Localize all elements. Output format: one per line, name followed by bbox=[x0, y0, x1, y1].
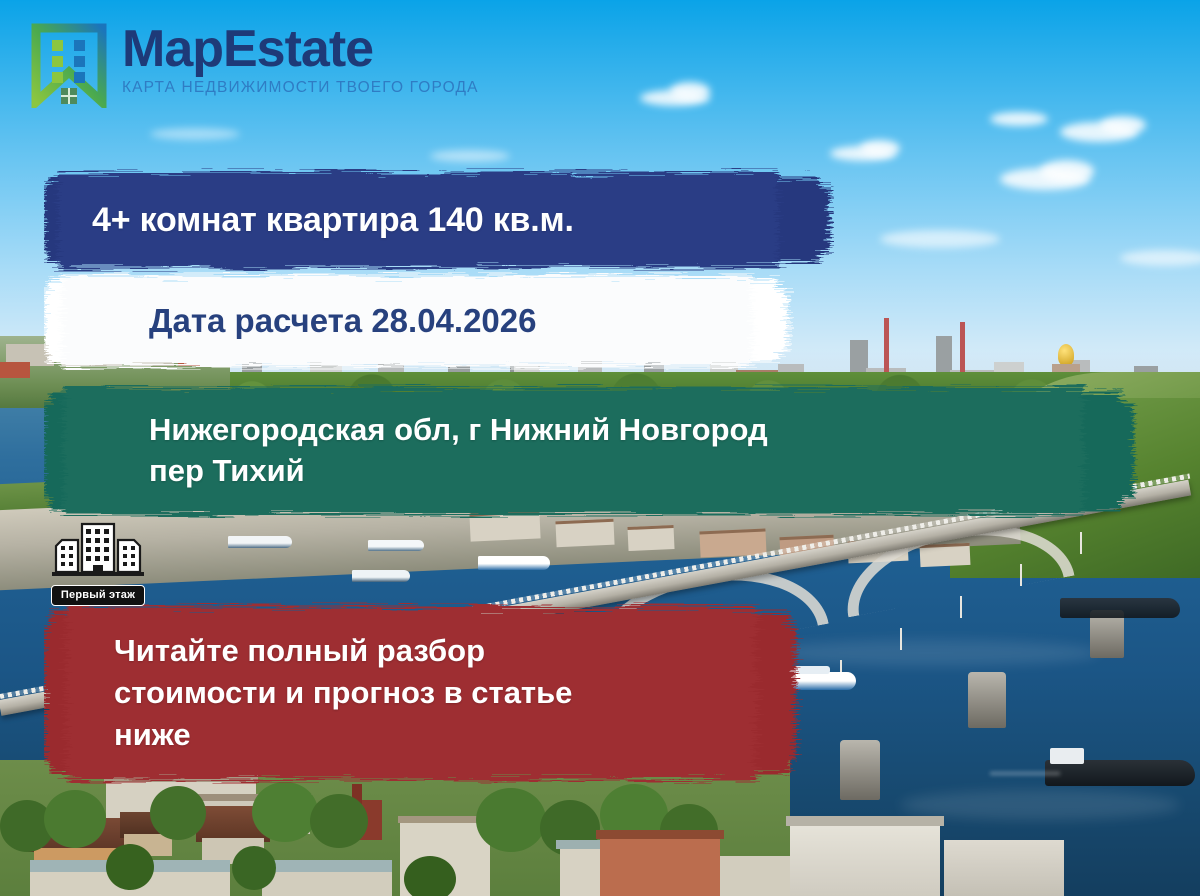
cta-line-3: ниже bbox=[114, 714, 572, 756]
apartment-building-icon bbox=[48, 516, 148, 583]
address-line-1: Нижегородская обл, г Нижний Новгород bbox=[149, 410, 768, 451]
bookmark-building-icon bbox=[30, 22, 108, 108]
brand-logo[interactable]: MapEstate КАРТА НЕДВИЖИМОСТИ ТВОЕГО ГОРО… bbox=[30, 22, 479, 108]
boat bbox=[228, 536, 292, 548]
address-text: Нижегородская обл, г Нижний Новгород пер… bbox=[44, 410, 768, 492]
address-banner: Нижегородская обл, г Нижний Новгород пер… bbox=[44, 384, 1140, 518]
boat bbox=[478, 556, 550, 570]
boat bbox=[352, 570, 410, 582]
watermark-label: Первый этаж bbox=[51, 585, 145, 606]
apartment-block bbox=[790, 822, 940, 896]
rooms-banner: 4+ комнат квартира 140 кв.м. bbox=[44, 168, 834, 272]
boat bbox=[368, 540, 424, 551]
cargo-barge bbox=[1060, 598, 1180, 618]
cta-line-1: Читайте полный разбор bbox=[114, 630, 572, 672]
rooms-text: 4+ комнат квартира 140 кв.м. bbox=[44, 201, 574, 240]
brand-name: MapEstate bbox=[122, 24, 479, 75]
address-line-2: пер Тихий bbox=[149, 451, 768, 492]
brand-tagline: КАРТА НЕДВИЖИМОСТИ ТВОЕГО ГОРОДА bbox=[122, 79, 479, 97]
date-banner: Дата расчета 28.04.2026 bbox=[44, 272, 794, 370]
cta-text: Читайте полный разбор стоимости и прогно… bbox=[44, 630, 572, 756]
date-text: Дата расчета 28.04.2026 bbox=[44, 302, 536, 340]
watermark: Первый этаж bbox=[42, 516, 154, 606]
cta-banner[interactable]: Читайте полный разбор стоимости и прогно… bbox=[44, 602, 804, 784]
cta-line-2: стоимости и прогноз в статье bbox=[114, 672, 572, 714]
